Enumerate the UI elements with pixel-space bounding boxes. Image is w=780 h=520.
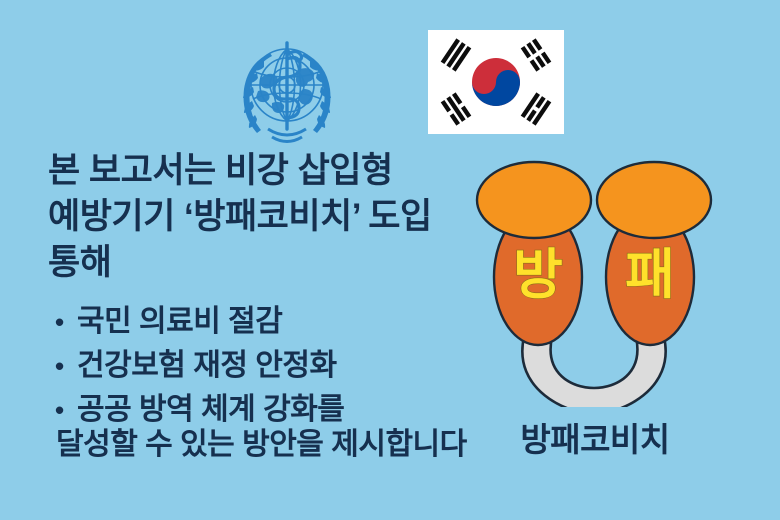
headline-line-2: 예방기기 ‘방패코비치’ 도입	[48, 194, 488, 240]
bullet-marker-icon: •	[55, 301, 77, 344]
device-name-label: 방패코비치	[470, 413, 720, 461]
nasal-device-illustration: 방 패	[468, 152, 720, 407]
list-item: • 건강보험 재정 안정화	[55, 344, 525, 388]
who-emblem	[222, 25, 352, 155]
u-tube-shape	[522, 337, 665, 407]
headline-line-1: 본 보고서는 비강 삽입형	[48, 148, 488, 194]
headline-line-3: 통해	[48, 240, 488, 286]
list-item: • 국민 의료비 절감	[55, 300, 525, 344]
list-item-label: 건강보험 재정 안정화	[77, 344, 337, 387]
closing-statement: 달성할 수 있는 방안을 제시합니다	[56, 425, 526, 465]
list-item-label: 국민 의료비 절감	[77, 300, 282, 343]
south-korea-flag	[428, 30, 564, 134]
infographic-poster: 본 보고서는 비강 삽입형 예방기기 ‘방패코비치’ 도입 통해 • 국민 의료…	[0, 0, 780, 520]
bullet-marker-icon: •	[55, 345, 77, 388]
headline: 본 보고서는 비강 삽입형 예방기기 ‘방패코비치’ 도입 통해	[48, 148, 488, 286]
benefit-list: • 국민 의료비 절감 • 건강보험 재정 안정화 • 공공 방역 체계 강화를	[55, 300, 525, 432]
device-glyph-right: 패	[625, 245, 675, 305]
device-glyph-left: 방	[513, 245, 563, 305]
